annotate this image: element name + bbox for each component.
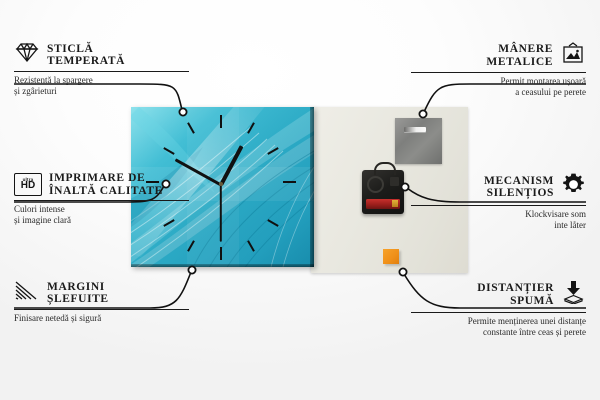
- tick-3: [283, 181, 296, 183]
- feature-glass[interactable]: STICLĂ TEMPERATĂ Rezistentă la spargere …: [14, 42, 189, 97]
- feature-spacer-title: DISTANȚIER SPUMĂ: [477, 282, 554, 307]
- feature-print-title: IMPRIMARE DE ÎNALTĂ CALITATE: [49, 172, 163, 197]
- feature-spacer-header: DISTANȚIER SPUMĂ: [411, 280, 586, 309]
- feature-handles-header: MÂNERE METALICE: [411, 42, 586, 69]
- foam-spacer: [383, 249, 399, 264]
- title-line-1: MÂNERE: [486, 43, 553, 56]
- tick-6: [220, 247, 222, 260]
- second-hand: [220, 184, 222, 242]
- feature-print-header: ultra HD IMPRIMARE DE ÎNALTĂ CALITATE: [14, 172, 189, 197]
- feature-glass-header: STICLĂ TEMPERATĂ: [14, 42, 189, 68]
- hanger-slot: [404, 127, 426, 132]
- title-line-2: ȘLEFUITE: [47, 293, 109, 306]
- title-line-2: TEMPERATĂ: [47, 55, 125, 68]
- desc-line-1: Klockvisare som: [411, 209, 586, 220]
- feature-glass-title: STICLĂ TEMPERATĂ: [47, 43, 125, 68]
- diamond-icon: [14, 42, 40, 68]
- feature-print[interactable]: ultra HD IMPRIMARE DE ÎNALTĂ CALITATE Cu…: [14, 172, 189, 226]
- feature-edges-header: MARGINI ȘLEFUITE: [14, 280, 189, 306]
- battery: [366, 199, 400, 209]
- feature-print-description: Culori intense și imagine clară: [14, 204, 189, 226]
- title-line-2: ÎNALTĂ CALITATE: [49, 185, 163, 198]
- movement-block: [390, 177, 399, 186]
- feature-mechanism-header: MECANISM SILENȚIOS: [411, 172, 586, 202]
- title-line-2: SPUMĂ: [477, 295, 554, 308]
- desc-line-2: a ceasului pe perete: [411, 87, 586, 98]
- ultra-hd-icon: ultra HD: [14, 173, 42, 196]
- desc-line-2: și imagine clară: [14, 215, 189, 226]
- battery-terminal: [392, 200, 398, 207]
- feature-print-rule: [14, 200, 189, 201]
- movement-dial: [367, 176, 384, 193]
- wall-mount-icon: [560, 42, 586, 69]
- clock-movement: [362, 170, 404, 214]
- desc-line-1: Rezistentă la spargere: [14, 75, 189, 86]
- feature-spacer-description: Permite menținerea unei distanțe constan…: [411, 316, 586, 338]
- desc-line-1: Permit montarea ușoară: [411, 76, 586, 87]
- feature-handles[interactable]: MÂNERE METALICE Permit montarea ușoară a…: [411, 42, 586, 98]
- title-line-1: IMPRIMARE DE: [49, 172, 163, 185]
- ultra-hd-large-label: HD: [21, 181, 35, 191]
- feature-spacer[interactable]: DISTANȚIER SPUMĂ Permite menținerea unei…: [411, 280, 586, 338]
- desc-line-1: Finisare netedă și sigură: [14, 313, 189, 324]
- feature-handles-title: MÂNERE METALICE: [486, 43, 553, 68]
- feature-spacer-rule: [411, 312, 586, 313]
- polished-edges-icon: [14, 280, 40, 306]
- feature-edges-title: MARGINI ȘLEFUITE: [47, 281, 109, 306]
- glass-bottom-edge: [131, 264, 314, 267]
- feature-glass-description: Rezistentă la spargere și zgârieturi: [14, 75, 189, 97]
- feature-handles-description: Permit montarea ușoară a ceasului pe per…: [411, 76, 586, 98]
- feature-handles-rule: [411, 72, 586, 73]
- glass-right-edge: [310, 107, 314, 267]
- feature-edges-description: Finisare netedă și sigură: [14, 313, 189, 324]
- gear-icon: [561, 172, 586, 202]
- desc-line-1: Culori intense: [14, 204, 189, 215]
- feature-edges[interactable]: MARGINI ȘLEFUITE Finisare netedă și sigu…: [14, 280, 189, 324]
- tick-12: [220, 115, 222, 128]
- title-line-1: MARGINI: [47, 281, 109, 294]
- feature-mechanism-title: MECANISM SILENȚIOS: [484, 175, 554, 200]
- infographic-canvas: STICLĂ TEMPERATĂ Rezistentă la spargere …: [0, 0, 600, 400]
- title-line-2: SILENȚIOS: [484, 187, 554, 200]
- title-line-1: STICLĂ: [47, 43, 125, 56]
- foam-spacer-icon: [561, 280, 586, 309]
- desc-line-2: și zgârieturi: [14, 86, 189, 97]
- feature-mechanism-rule: [411, 205, 586, 206]
- feature-edges-rule: [14, 309, 189, 310]
- desc-line-1: Permite menținerea unei distanțe: [411, 316, 586, 327]
- hanger-loop-icon: [374, 162, 396, 175]
- feature-glass-rule: [14, 71, 189, 72]
- desc-line-2: constante între ceas și perete: [411, 327, 586, 338]
- metal-hanger-plate: [395, 118, 442, 164]
- title-line-2: METALICE: [486, 56, 553, 69]
- desc-line-2: inte låter: [411, 220, 586, 231]
- clock-center-pin: [219, 182, 223, 186]
- feature-mechanism-description: Klockvisare som inte låter: [411, 209, 586, 231]
- title-line-1: MECANISM: [484, 175, 554, 188]
- title-line-1: DISTANȚIER: [477, 282, 554, 295]
- feature-mechanism[interactable]: MECANISM SILENȚIOS Klockvisare som inte …: [411, 172, 586, 231]
